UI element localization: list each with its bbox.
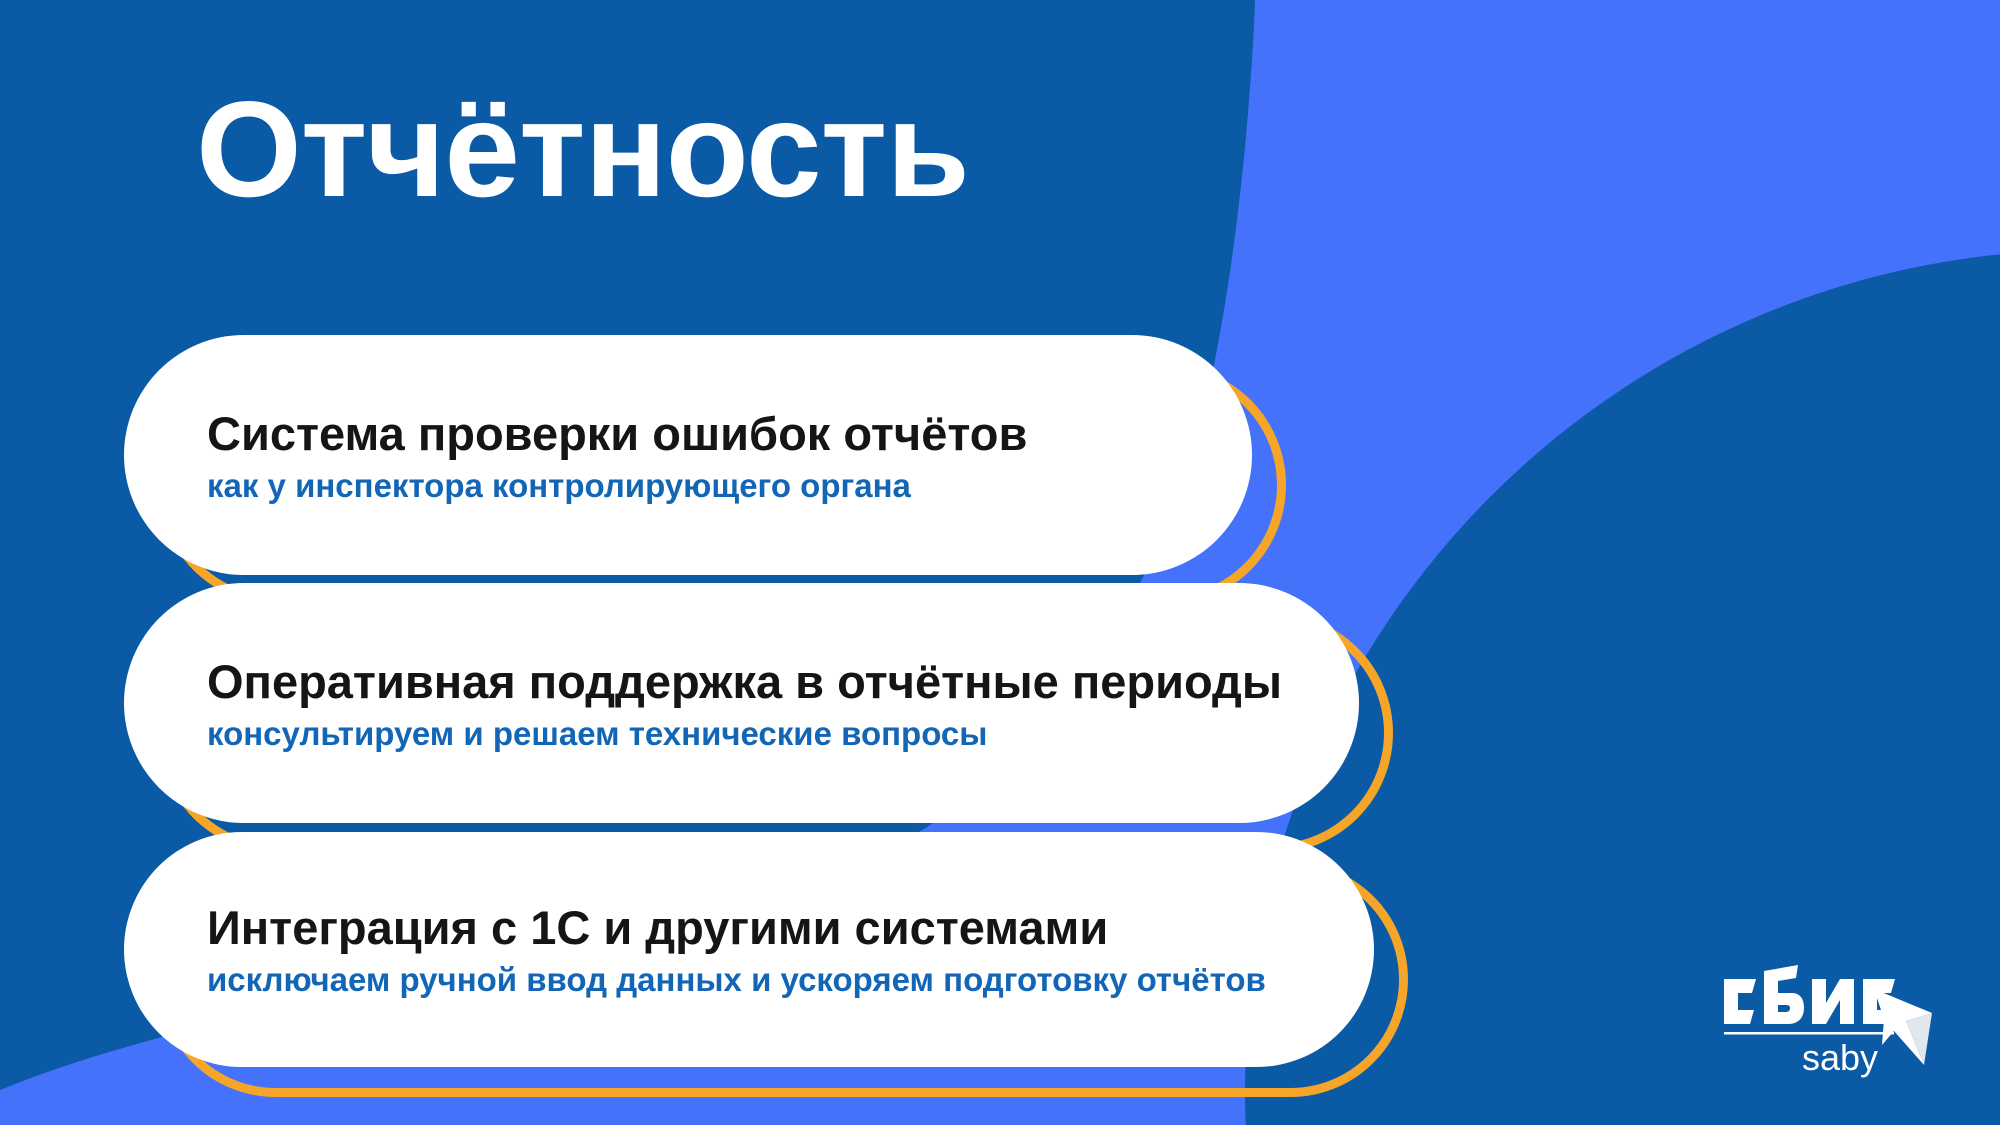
saby-logo[interactable]: saby — [1716, 953, 1946, 1078]
card-body-2: Оперативная поддержка в отчётные периоды… — [124, 583, 1359, 823]
card-title-1: Система проверки ошибок отчётов — [207, 406, 1252, 461]
logo-wordmark-en: saby — [1802, 1037, 1878, 1078]
card-body-3: Интеграция с 1С и другими системами искл… — [124, 832, 1374, 1067]
slide-canvas: Отчётность Система проверки ошибок отчёт… — [0, 0, 2000, 1125]
bird-swoosh-icon — [1874, 989, 1932, 1065]
card-body-1: Система проверки ошибок отчётов как у ин… — [124, 335, 1252, 575]
feature-card-2[interactable]: Оперативная поддержка в отчётные периоды… — [124, 583, 1359, 823]
feature-card-3[interactable]: Интеграция с 1С и другими системами искл… — [124, 832, 1374, 1067]
logo-wordmark-ru-icon — [1724, 965, 1895, 1024]
card-subtitle-2: консультируем и решаем технические вопро… — [207, 715, 1359, 753]
card-subtitle-1: как у инспектора контролирующего органа — [207, 467, 1252, 505]
page-title: Отчётность — [196, 78, 969, 221]
logo-divider — [1724, 1032, 1894, 1035]
card-title-2: Оперативная поддержка в отчётные периоды — [207, 654, 1359, 709]
card-subtitle-3: исключаем ручной ввод данных и ускоряем … — [207, 961, 1374, 999]
card-title-3: Интеграция с 1С и другими системами — [207, 900, 1374, 955]
feature-card-1[interactable]: Система проверки ошибок отчётов как у ин… — [124, 335, 1252, 575]
